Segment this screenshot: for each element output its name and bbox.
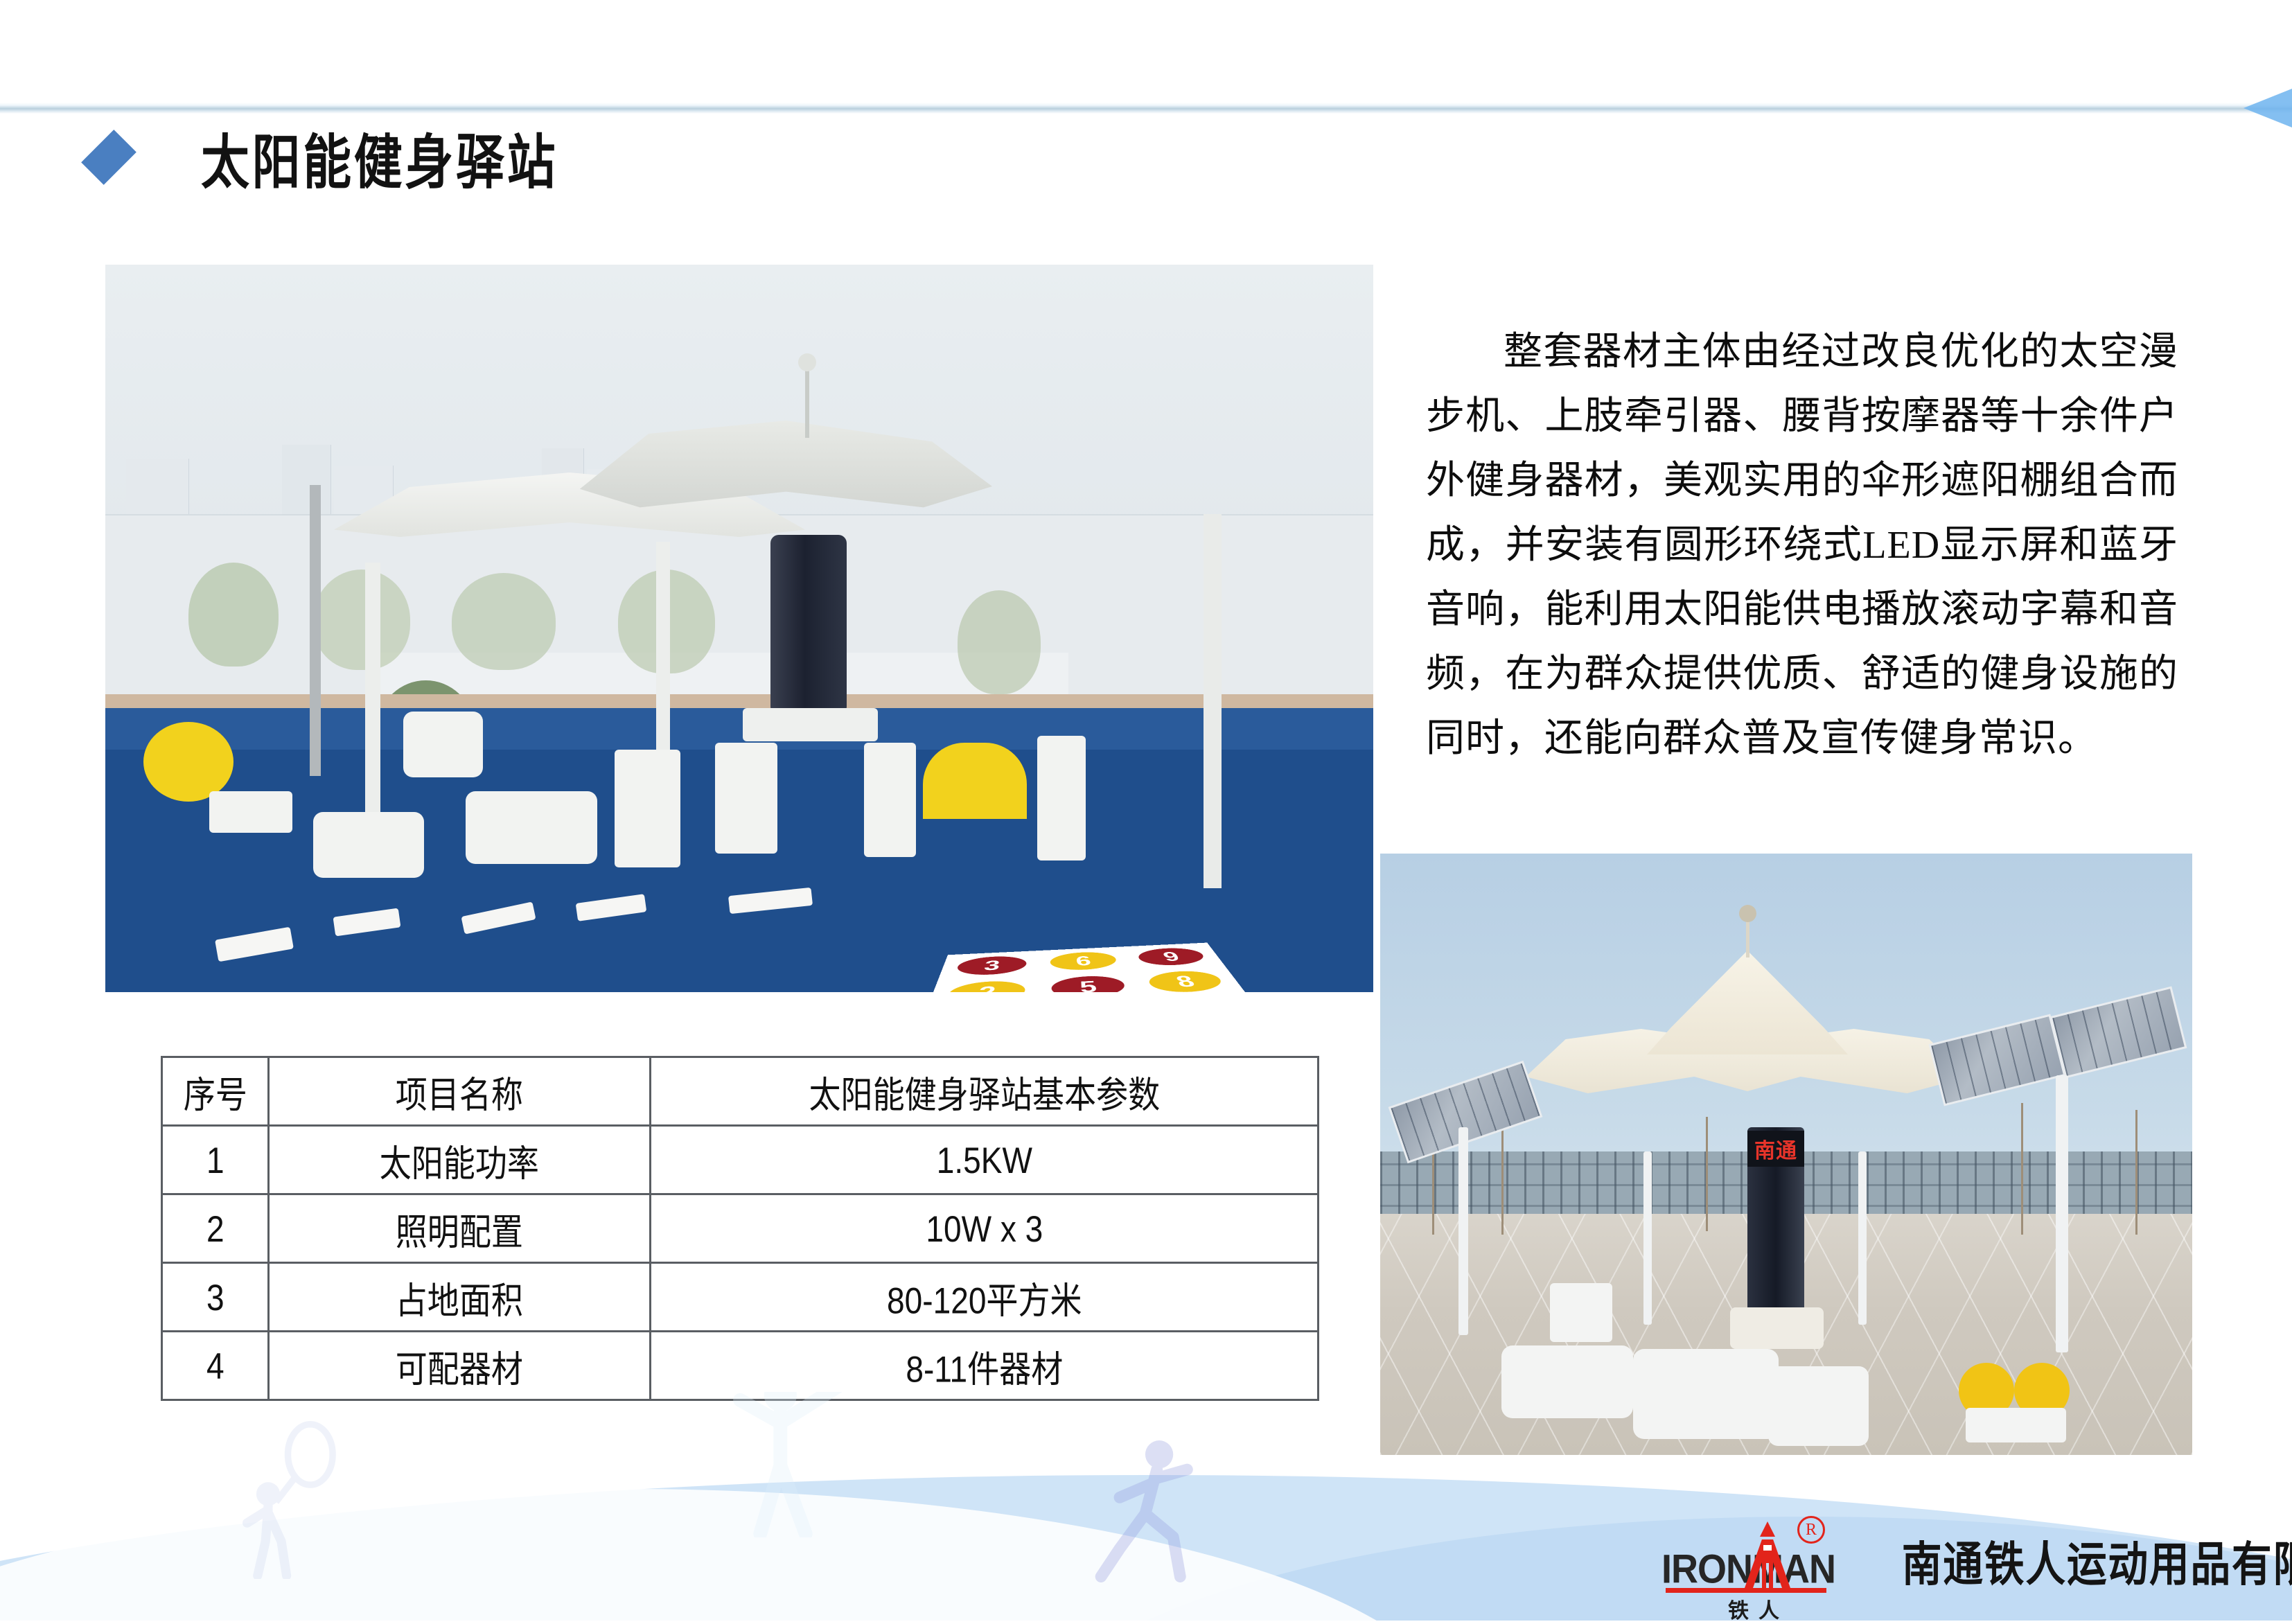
photo-fitness-equipment <box>864 743 916 857</box>
table-cell-value: 1.5KW <box>657 1122 1311 1199</box>
photo-canopy-leg <box>1858 1151 1867 1325</box>
grid-cell: 2 <box>932 977 1035 992</box>
photo-fitness-equipment <box>403 712 483 777</box>
grid-cell: 9 <box>1126 945 1219 969</box>
photo-led-kiosk <box>770 535 847 715</box>
photo-kiosk-base <box>743 708 878 741</box>
table-cell-index: 2 <box>163 1190 267 1267</box>
photo-fitness-equipment <box>313 812 424 878</box>
diamond-bullet-icon <box>81 130 136 185</box>
photo-bare-tree <box>2021 1103 2023 1235</box>
spec-table: 序号 项目名称 太阳能健身驿站基本参数 1 太阳能功率 1.5KW 2 照明配置… <box>161 1056 1319 1401</box>
table-cell-name: 占地面积 <box>272 1259 647 1336</box>
grid-number: 5 <box>1051 975 1129 992</box>
photo-yellow-disc <box>143 722 233 802</box>
table-cell-index: 3 <box>163 1259 267 1336</box>
company-name: 南通铁人运动用品有限公司 <box>1902 1526 2292 1594</box>
photo-tree <box>452 573 556 670</box>
table-cell-name: 可配器材 <box>272 1327 647 1404</box>
photo-canopy-leg <box>1643 1151 1652 1325</box>
photo-main-fitness-station: 3 6 9 2 5 8 <box>105 265 1373 992</box>
logo-underline <box>1666 1588 1826 1593</box>
page-title: 太阳能健身驿站 <box>201 114 558 200</box>
grid-number: 2 <box>944 980 1025 992</box>
ironman-logo: IRONMAN R 铁人 <box>1661 1516 1869 1605</box>
table-row: 2 照明配置 10W x 3 <box>162 1194 1319 1263</box>
photo-fitness-equipment <box>715 743 777 854</box>
photo-tree <box>958 590 1041 694</box>
footer-wave-white <box>0 1489 1455 1621</box>
table-cell-index: 1 <box>163 1122 267 1199</box>
description-paragraph: 整套器材主体由经过改良优化的太空漫步机、上肢牵引器、腰背按摩器等十余件户外健身器… <box>1426 320 2178 771</box>
photo-tree <box>313 570 410 670</box>
logo-chinese-name: 铁人 <box>1689 1594 1828 1624</box>
table-row: 1 太阳能功率 1.5KW <box>162 1126 1319 1194</box>
photo-bare-tree <box>2135 1110 2137 1235</box>
photo-bare-tree <box>1706 1117 1708 1231</box>
photo-yellow-slide <box>923 743 1027 819</box>
grid-number: 8 <box>1145 969 1227 992</box>
table-header-cell: 序号 <box>163 1053 267 1130</box>
page-title-row: 太阳能健身驿站 <box>83 119 589 195</box>
table-cell-index: 4 <box>163 1327 267 1404</box>
photo-secondary-solar-station: 南通 <box>1380 854 2192 1455</box>
table-cell-value: 8-11件器材 <box>657 1327 1311 1404</box>
photo-bare-tree <box>1501 1117 1504 1235</box>
table-row: 4 可配器材 8-11件器材 <box>162 1332 1319 1400</box>
table-header-row: 序号 项目名称 太阳能健身驿站基本参数 <box>162 1057 1319 1126</box>
athlete-silhouette-icon <box>728 1392 866 1537</box>
photo-fitness-equipment <box>209 791 292 833</box>
photo-fitness-equipment <box>1501 1345 1633 1418</box>
logo-figure-icon <box>1741 1521 1794 1589</box>
table-header-cell: 项目名称 <box>272 1053 647 1130</box>
photo-fitness-equipment <box>1037 736 1086 860</box>
grid-number: 6 <box>1050 951 1119 971</box>
table-row: 3 占地面积 80-120平方米 <box>162 1263 1319 1332</box>
photo-fitness-equipment <box>1633 1349 1779 1439</box>
table-header-cell: 太阳能健身驿站基本参数 <box>657 1053 1311 1130</box>
grid-cell: 3 <box>944 953 1036 979</box>
photo-light-pole <box>310 485 321 776</box>
runner-silhouette-icon <box>1093 1437 1211 1582</box>
grid-number: 3 <box>955 955 1027 976</box>
photo-fitness-equipment <box>466 791 597 864</box>
photo-solar-pole <box>1458 1127 1468 1335</box>
registered-trademark-icon: R <box>1797 1516 1825 1544</box>
grid-cell: 8 <box>1135 967 1240 992</box>
photo-solar-pole <box>2056 1075 2068 1352</box>
header-accent-triangle-icon <box>2243 89 2292 127</box>
tennis-player-silhouette-icon <box>229 1420 360 1579</box>
photo-canopy-finial <box>1739 905 1756 922</box>
grid-cell: 5 <box>1041 972 1140 992</box>
footer-brand: IRONMAN R 铁人 南通铁人运动用品有限公司 <box>1661 1516 2292 1605</box>
table-cell-value: 10W x 3 <box>657 1190 1311 1267</box>
photo-support-column <box>1204 514 1222 888</box>
grid-cell: 6 <box>1041 948 1129 974</box>
table-cell-name: 照明配置 <box>272 1190 647 1267</box>
photo-led-display: 南通 <box>1747 1131 1804 1167</box>
photo-fitness-equipment <box>1768 1366 1869 1446</box>
header-divider-rule <box>0 103 2292 114</box>
photo-tree <box>188 563 279 667</box>
photo-canopy-finial <box>798 353 816 371</box>
photo-fitness-equipment <box>1966 1408 2066 1442</box>
table-cell-name: 太阳能功率 <box>272 1122 647 1199</box>
photo-canopy-spire <box>805 362 809 438</box>
photo-pillar-base <box>1730 1307 1824 1349</box>
photo-fitness-equipment <box>1550 1283 1612 1342</box>
table-cell-value: 80-120平方米 <box>657 1259 1311 1336</box>
grid-number: 9 <box>1136 947 1209 967</box>
photo-fitness-equipment <box>615 750 680 867</box>
led-display-text: 南通 <box>1754 1133 1797 1164</box>
